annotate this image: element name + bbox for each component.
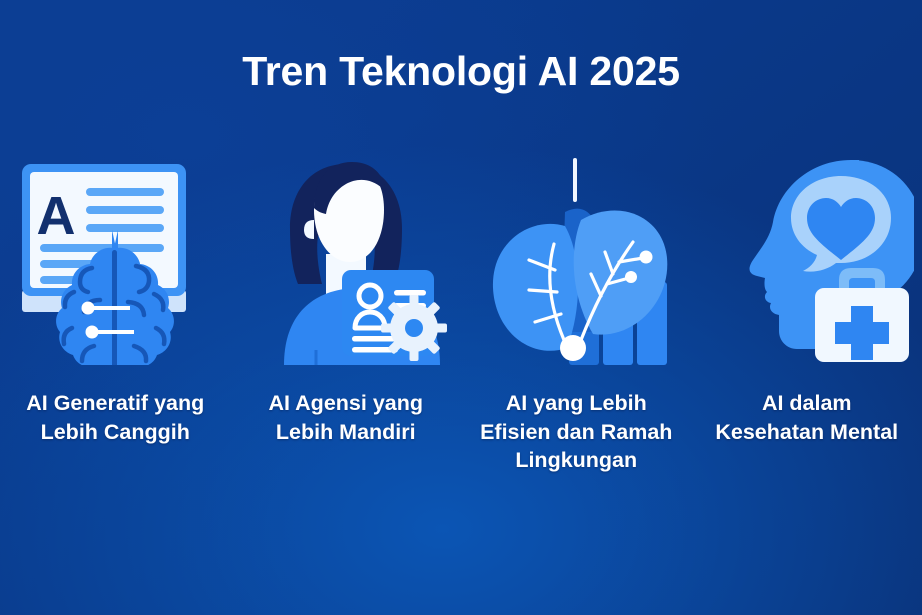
trend-label-efficient-green-ai: AI yang Lebih Efisien dan Ramah Lingkung… (476, 389, 676, 475)
trend-card-mental-health-ai[interactable]: AI dalam Kesehatan Mental (692, 150, 922, 550)
trend-label-mental-health-ai: AI dalam Kesehatan Mental (707, 389, 907, 446)
trend-label-generative-ai: AI Generatif yang Lebih Canggih (15, 389, 215, 446)
trend-label-agentic-ai: AI Agensi yang Lebih Mandiri (246, 389, 446, 446)
monitor-brain-icon: A (8, 150, 223, 365)
page-title: Tren Teknologi AI 2025 (0, 48, 922, 95)
head-heart-medkit-icon (699, 150, 914, 365)
gear-icon (381, 295, 447, 361)
trend-card-agentic-ai[interactable]: AI Agensi yang Lebih Mandiri (231, 150, 462, 550)
infographic-canvas: Tren Teknologi AI 2025 A (0, 0, 922, 615)
trend-card-efficient-green-ai[interactable]: AI yang Lebih Efisien dan Ramah Lingkung… (461, 150, 692, 550)
trends-row: A (0, 150, 922, 550)
person-id-card-gear-icon (238, 150, 453, 365)
svg-text:A: A (36, 186, 75, 246)
leaf-circuit-chart-icon (469, 150, 684, 365)
trend-card-generative-ai[interactable]: A (0, 150, 231, 550)
